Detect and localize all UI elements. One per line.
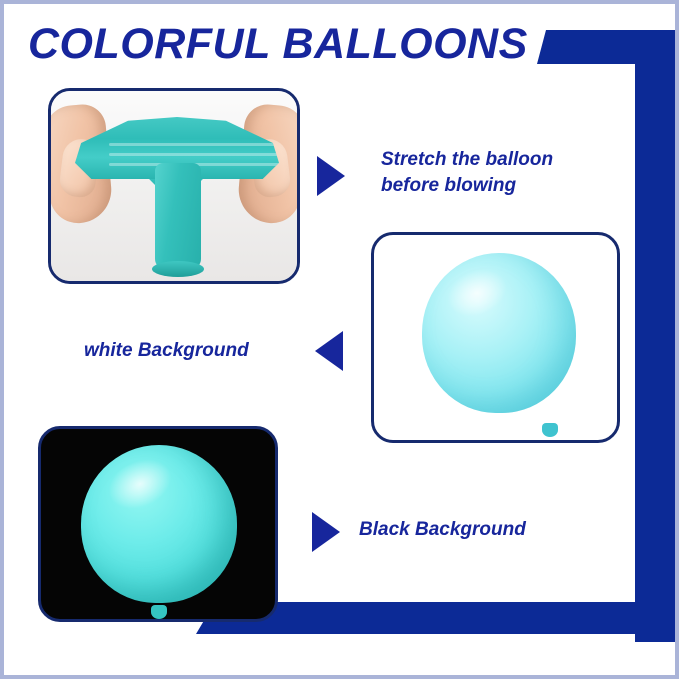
balloon-knot (151, 605, 167, 619)
turquoise-balloon (81, 445, 237, 603)
balloon-on-white-photo (371, 232, 620, 443)
arrow-right-icon (312, 512, 340, 552)
balloon-highlight (100, 450, 179, 519)
caption-line-2: before blowing (381, 173, 611, 199)
poster-canvas: COLORFUL BALLOONS (0, 0, 679, 679)
photo-background (51, 91, 297, 281)
balloon-knot (542, 423, 558, 437)
caption-line-1: Stretch the balloon (381, 147, 611, 173)
caption-black-background: Black Background (359, 517, 599, 543)
crease-line (109, 153, 289, 156)
caption-stretch-instruction: Stretch the balloon before blowing (381, 147, 611, 198)
arrow-right-icon (317, 156, 345, 196)
crease-line (109, 143, 289, 146)
decor-band-right-edge (635, 30, 675, 642)
caption-white-background: white Background (84, 338, 299, 364)
balloon-neck (155, 163, 201, 269)
poster-title: COLORFUL BALLOONS (28, 20, 528, 69)
balloon-on-black-photo (38, 426, 278, 622)
balloon-highlight (440, 261, 514, 325)
hands-stretching-balloon-photo (48, 88, 300, 284)
arrow-left-icon (315, 331, 343, 371)
aqua-balloon (422, 253, 576, 413)
